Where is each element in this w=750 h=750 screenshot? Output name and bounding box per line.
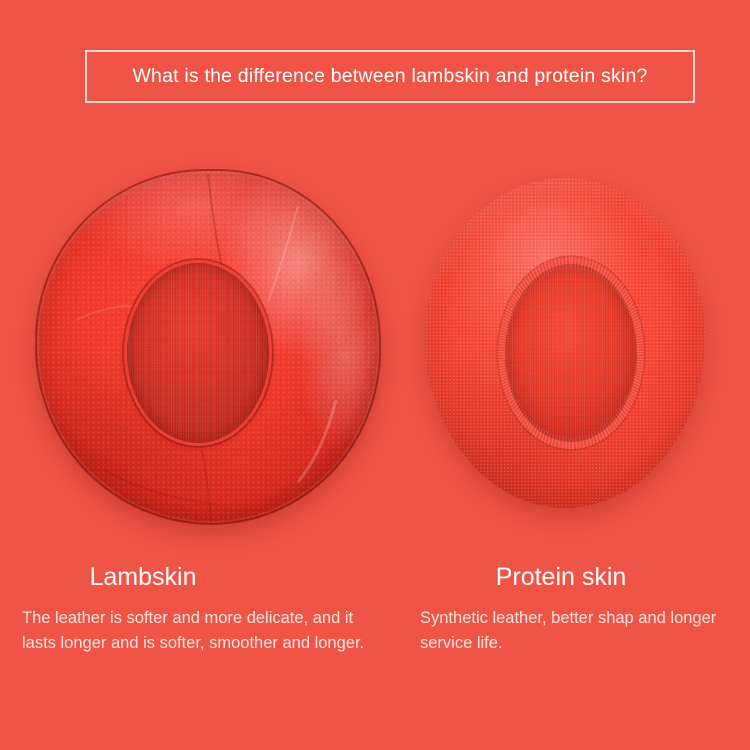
lambskin-description: The leather is softer and more delicate,…: [22, 606, 382, 656]
protein-skin-product-name: Protein skin: [420, 563, 740, 592]
header-question-text: What is the difference between lambskin …: [132, 65, 647, 88]
lambskin-caption-column: Lambskin The leather is softer and more …: [22, 563, 382, 656]
product-comparison-infographic: What is the difference between lambskin …: [0, 0, 750, 750]
lambskin-product-name: Lambskin: [22, 563, 382, 592]
header-question-box: What is the difference between lambskin …: [85, 50, 695, 103]
protein-skin-earpad-image: [425, 178, 705, 508]
protein-skin-inner-opening: [505, 264, 637, 442]
lambskin-earpad-image: [36, 170, 380, 524]
protein-skin-mesh-fabric: [505, 264, 637, 442]
lambskin-mesh-fabric: [127, 263, 269, 443]
protein-skin-description: Synthetic leather, better shap and longe…: [420, 606, 740, 656]
protein-skin-caption-column: Protein skin Synthetic leather, better s…: [420, 563, 740, 656]
lambskin-inner-opening: [127, 263, 269, 443]
